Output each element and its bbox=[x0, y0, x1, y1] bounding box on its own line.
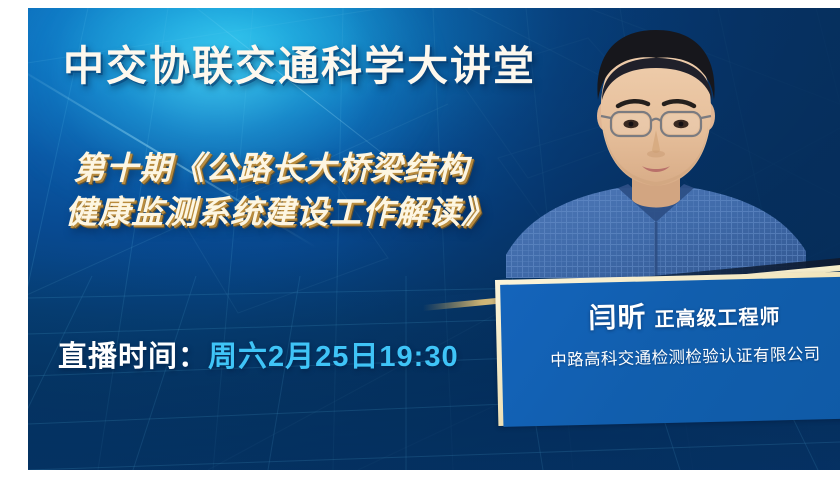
session-subtitle-line-1: 第十期《公路长大桥梁结构 bbox=[73, 146, 494, 190]
speaker-name-row: 闫昕 正高级工程师 bbox=[588, 292, 781, 337]
poster-frame: 闫昕 正高级工程师 中路高科交通检测检验认证有限公司 中交协联交通科学大讲堂 第… bbox=[0, 0, 840, 480]
panel-content: 闫昕 正高级工程师 中路高科交通检测检验认证有限公司 bbox=[500, 276, 840, 426]
broadcast-time: 直播时间：周六2月25日19:30 bbox=[58, 333, 459, 375]
speaker-name: 闫昕 bbox=[588, 295, 647, 336]
speaker-organization: 中路高科交通检测检验认证有限公司 bbox=[550, 340, 821, 370]
speaker-portrait bbox=[506, 8, 806, 278]
session-subtitle-line-2: 健康监测系统建设工作解读》 bbox=[65, 190, 494, 234]
broadcast-time-label: 直播时间： bbox=[58, 341, 208, 373]
speaker-title: 正高级工程师 bbox=[654, 300, 781, 332]
page-title: 中交协联交通科学大讲堂 bbox=[63, 32, 536, 92]
speaker-info-panel: 闫昕 正高级工程师 中路高科交通检测检验认证有限公司 bbox=[495, 271, 840, 426]
broadcast-time-value: 周六2月25日19:30 bbox=[208, 341, 459, 373]
poster-canvas: 闫昕 正高级工程师 中路高科交通检测检验认证有限公司 中交协联交通科学大讲堂 第… bbox=[28, 8, 840, 470]
session-subtitle: 第十期《公路长大桥梁结构 健康监测系统建设工作解读》 bbox=[73, 146, 494, 234]
